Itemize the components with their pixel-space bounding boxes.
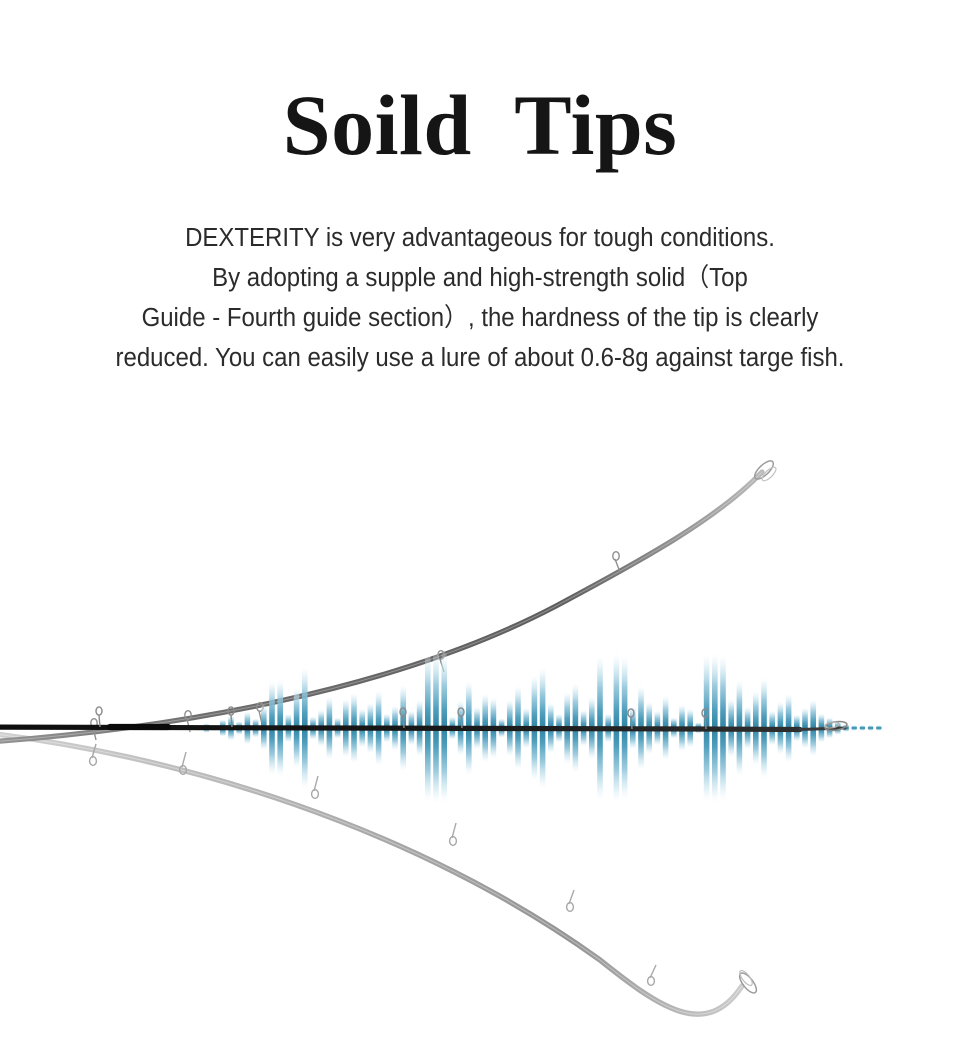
product-visual bbox=[0, 400, 960, 1058]
title-block: Soild Tips bbox=[0, 78, 960, 172]
description-line-2: By adopting a supple and high-strength s… bbox=[29, 258, 931, 298]
lower-rod-flexed-down bbox=[0, 730, 759, 1014]
lower-rod-guide-ring bbox=[90, 744, 656, 985]
waveform-bar bbox=[851, 725, 857, 731]
waveform-bar bbox=[860, 725, 866, 731]
page-title: Soild Tips bbox=[0, 78, 960, 172]
description-line-1: DEXTERITY is very advantageous for tough… bbox=[29, 218, 931, 258]
waveform-bar bbox=[876, 725, 882, 731]
upper-rod-flexed-up bbox=[0, 458, 778, 744]
description-line-4: reduced. You can easily use a lure of ab… bbox=[29, 338, 931, 378]
description-line-3: Guide - Fourth guide section）, the hardn… bbox=[29, 298, 931, 338]
description-block: DEXTERITY is very advantageous for tough… bbox=[0, 218, 960, 378]
waveform-bar bbox=[868, 725, 874, 731]
upper-rod-tip-guide bbox=[752, 458, 778, 483]
